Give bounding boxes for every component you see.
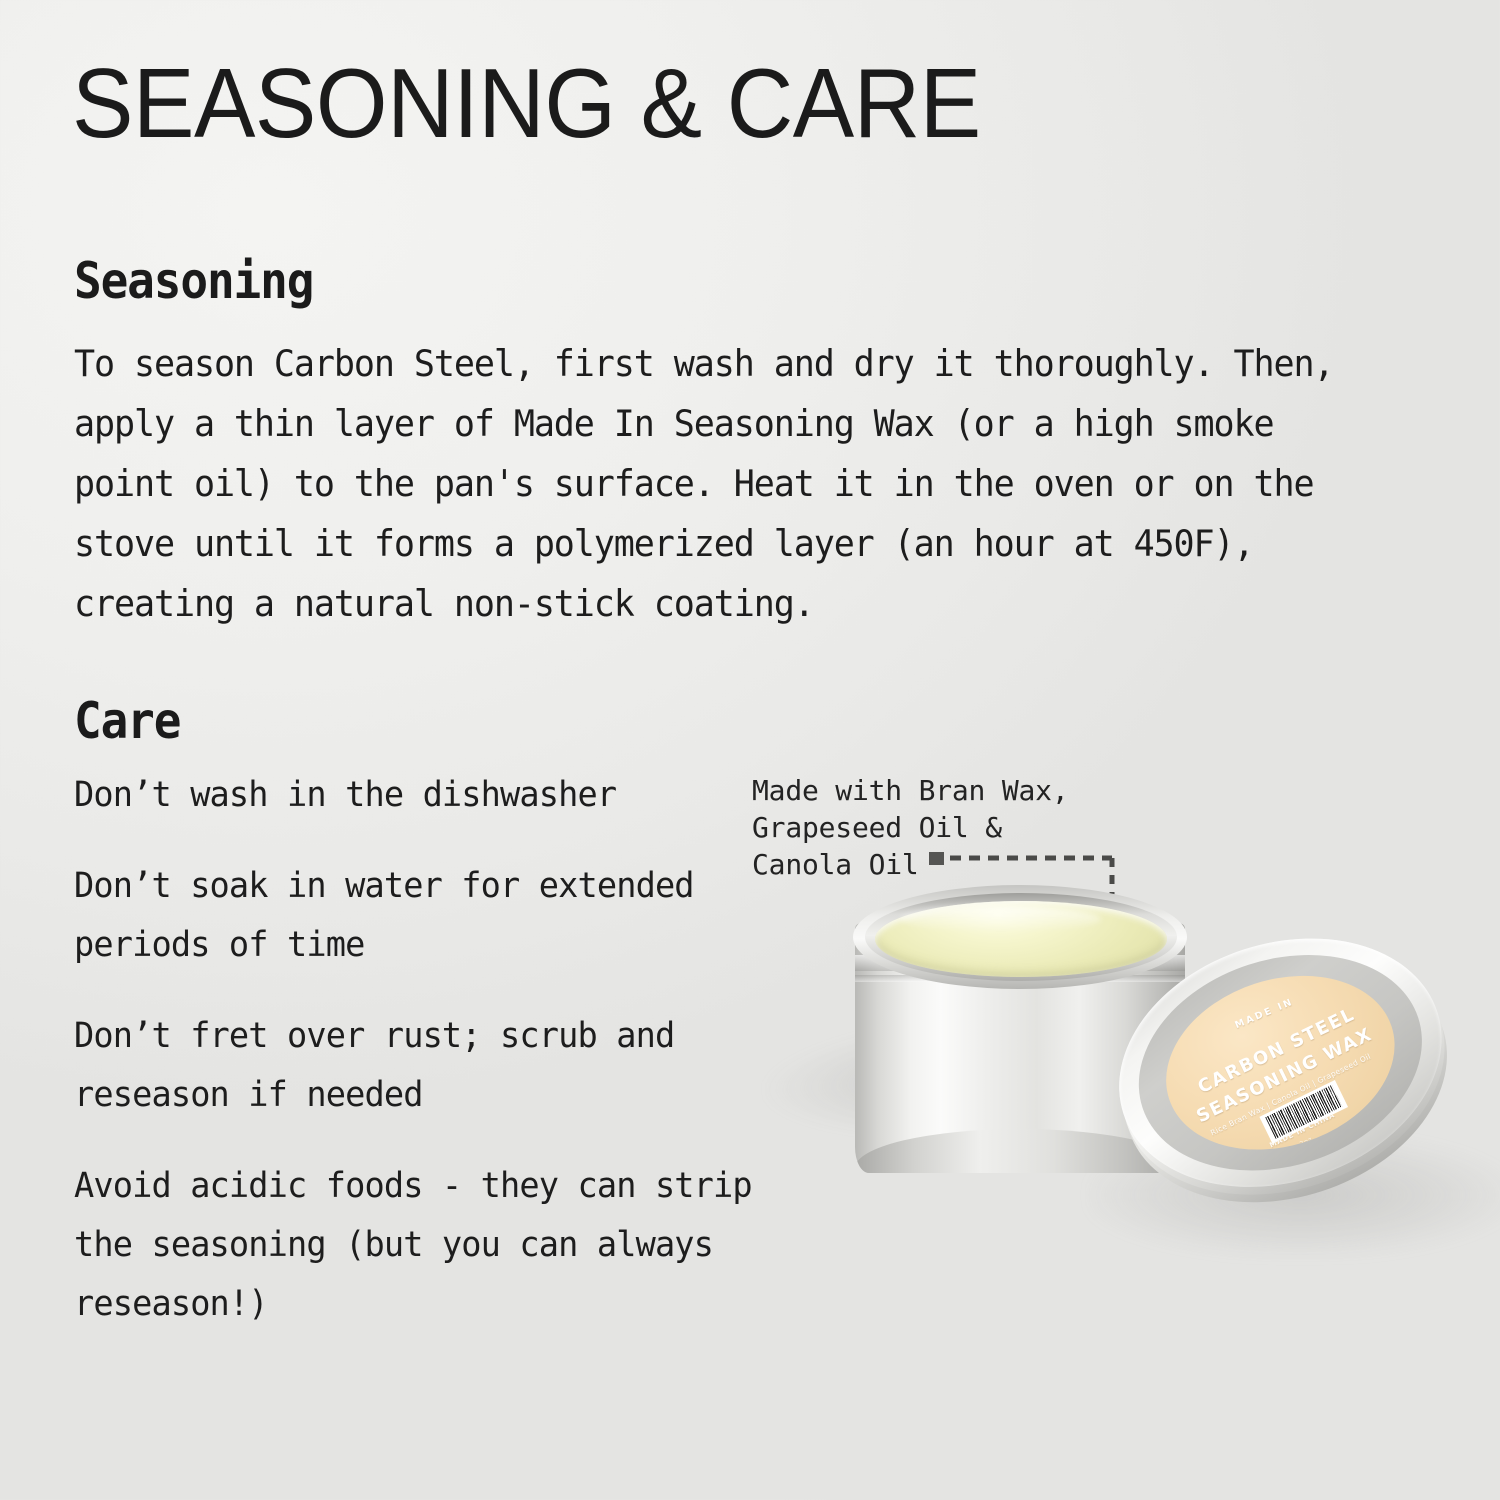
- seasoning-heading: Seasoning: [74, 252, 313, 310]
- care-list-item: Don’t soak in water for extended periods…: [74, 857, 804, 975]
- wax-highlight: [901, 906, 1101, 932]
- seasoning-care-page: SEASONING & CARE Seasoning To season Car…: [0, 0, 1500, 1500]
- care-heading: Care: [74, 692, 180, 750]
- seasoning-body-text: To season Carbon Steel, first wash and d…: [74, 334, 1360, 634]
- care-list-item: Avoid acidic foods - they can strip the …: [74, 1157, 804, 1334]
- product-photo: MADE IN CARBON STEEL SEASONING WAX Rice …: [745, 835, 1485, 1305]
- care-list-item: Don’t fret over rust; scrub and reseason…: [74, 1007, 804, 1125]
- care-list-item: Don’t wash in the dishwasher: [74, 766, 804, 825]
- care-list: Don’t wash in the dishwasher Don’t soak …: [74, 766, 834, 1334]
- page-title: SEASONING & CARE: [72, 52, 981, 156]
